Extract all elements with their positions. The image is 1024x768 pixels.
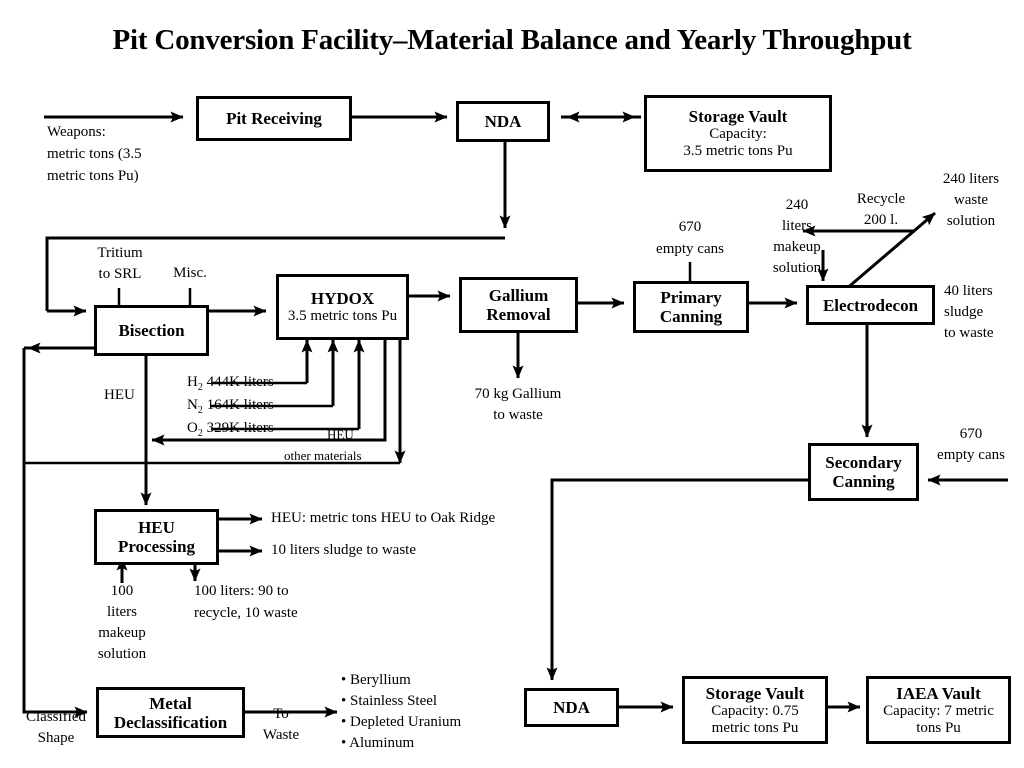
label-to-waste-line2: Waste [256,727,306,744]
node-title: HYDOX [311,289,374,308]
node-title: IAEA Vault [896,684,981,703]
label-makeup-100-line3: makeup [92,625,152,642]
node-metal-declassification[interactable]: Metal Declassification [96,687,245,738]
label-makeup-240-line2: liters [766,218,828,235]
node-subtitle-1: Capacity: 0.75 [711,703,798,720]
label-sludge-40-line3: to waste [944,325,994,342]
label-makeup-100-line1: 100 [92,583,152,600]
label-sludge-40-line2: sludge [944,304,983,321]
node-secondary-canning[interactable]: Secondary Canning [808,443,919,501]
node-electrodecon[interactable]: Electrodecon [806,285,935,325]
label-weapons-line3: metric tons Pu) [47,168,139,185]
label-weapons-line2: metric tons (3.5 [47,146,142,163]
node-subtitle-1: 3.5 metric tons Pu [288,308,397,325]
label-makeup-240-line4: solution [766,260,828,277]
node-storage-vault-top[interactable]: Storage Vault Capacity: 3.5 metric tons … [644,95,832,172]
label-heu-mid: HEU [327,426,354,443]
node-title-2: Canning [832,472,894,491]
label-h2-gas: H2 444K liters [187,374,274,396]
node-pit-receiving[interactable]: Pit Receiving [196,96,352,141]
node-primary-canning[interactable]: Primary Canning [633,281,749,333]
label-sludge-40-line1: 40 liters [944,283,993,300]
label-n2-gas: N2 164K liters [187,397,274,419]
label-weapons-line1: Weapons: [47,124,106,141]
label-waste-solution-line1: 240 liters [921,171,1021,188]
label-waste-solution-line2: waste [921,192,1021,209]
label-recycle-100-line1: 100 liters: 90 to [194,583,289,600]
label-other-materials: other materials [284,447,362,464]
node-title-1: Metal [149,694,191,713]
label-misc: Misc. [160,265,220,282]
node-title: Storage Vault [706,684,805,703]
node-title: Pit Receiving [226,109,322,128]
label-o2-gas: O2 329K liters [187,420,274,442]
node-title-2: Canning [660,307,722,326]
label-recycle-line1: Recycle [836,191,926,208]
label-waste-solution-line3: solution [921,213,1021,230]
node-title-1: Gallium [489,286,549,305]
list-item: • Stainless Steel [341,691,461,712]
label-empty-cans-primary-line2: empty cans [640,241,740,258]
label-makeup-100-line4: solution [92,646,152,663]
label-gallium-waste-line2: to waste [448,407,588,424]
label-makeup-240-line3: makeup [766,239,828,256]
label-classified-shape-line1: Classified [14,709,98,726]
node-hydox[interactable]: HYDOX 3.5 metric tons Pu [276,274,409,340]
node-nda-bottom[interactable]: NDA [524,688,619,727]
label-makeup-240-line1: 240 [766,197,828,214]
node-subtitle-2: metric tons Pu [712,720,799,737]
list-item: • Beryllium [341,670,461,691]
node-subtitle-1: Capacity: [709,126,766,143]
label-empty-cans-secondary-line1: 670 [921,426,1021,443]
label-gallium-waste-line1: 70 kg Gallium [448,386,588,403]
node-subtitle-2: tons Pu [916,720,961,737]
list-item: • Depleted Uranium [341,712,461,733]
node-title: NDA [553,698,590,717]
waste-materials-list: • Beryllium • Stainless Steel • Depleted… [341,670,461,754]
node-title: Bisection [118,321,184,340]
node-nda-top[interactable]: NDA [456,101,550,142]
label-to-waste-line1: To [256,706,306,723]
label-classified-shape-line2: Shape [14,730,98,747]
node-storage-vault-bottom[interactable]: Storage Vault Capacity: 0.75 metric tons… [682,676,828,744]
node-title-2: Removal [486,305,550,324]
label-empty-cans-primary-line1: 670 [640,219,740,236]
node-title-1: Primary [660,288,721,307]
diagram-canvas: Pit Conversion Facility–Material Balance… [0,0,1024,768]
label-tritium-line1: Tritium [88,245,152,262]
node-title-1: Secondary [825,453,902,472]
label-heu-oak-ridge: HEU: metric tons HEU to Oak Ridge [271,510,495,527]
node-title: NDA [485,112,522,131]
node-subtitle-2: 3.5 metric tons Pu [683,143,792,160]
node-title: Storage Vault [689,107,788,126]
node-gallium-removal[interactable]: Gallium Removal [459,277,578,333]
label-recycle-100-line2: recycle, 10 waste [194,605,298,622]
label-makeup-100-line2: liters [92,604,152,621]
page-title: Pit Conversion Facility–Material Balance… [0,24,1024,57]
node-title: Electrodecon [823,296,918,315]
list-item: • Aluminum [341,733,461,754]
node-title-2: Declassification [114,713,227,732]
node-title-2: Processing [118,537,195,556]
node-bisection[interactable]: Bisection [94,305,209,356]
label-tritium-line2: to SRL [88,266,152,283]
label-sludge-10: 10 liters sludge to waste [271,542,416,559]
label-empty-cans-secondary-line2: empty cans [921,447,1021,464]
node-subtitle-1: Capacity: 7 metric [883,703,994,720]
node-heu-processing[interactable]: HEU Processing [94,509,219,565]
node-title-1: HEU [138,518,175,537]
node-iaea-vault[interactable]: IAEA Vault Capacity: 7 metric tons Pu [866,676,1011,744]
label-heu-left: HEU [104,387,135,404]
label-recycle-line2: 200 l. [836,212,926,229]
